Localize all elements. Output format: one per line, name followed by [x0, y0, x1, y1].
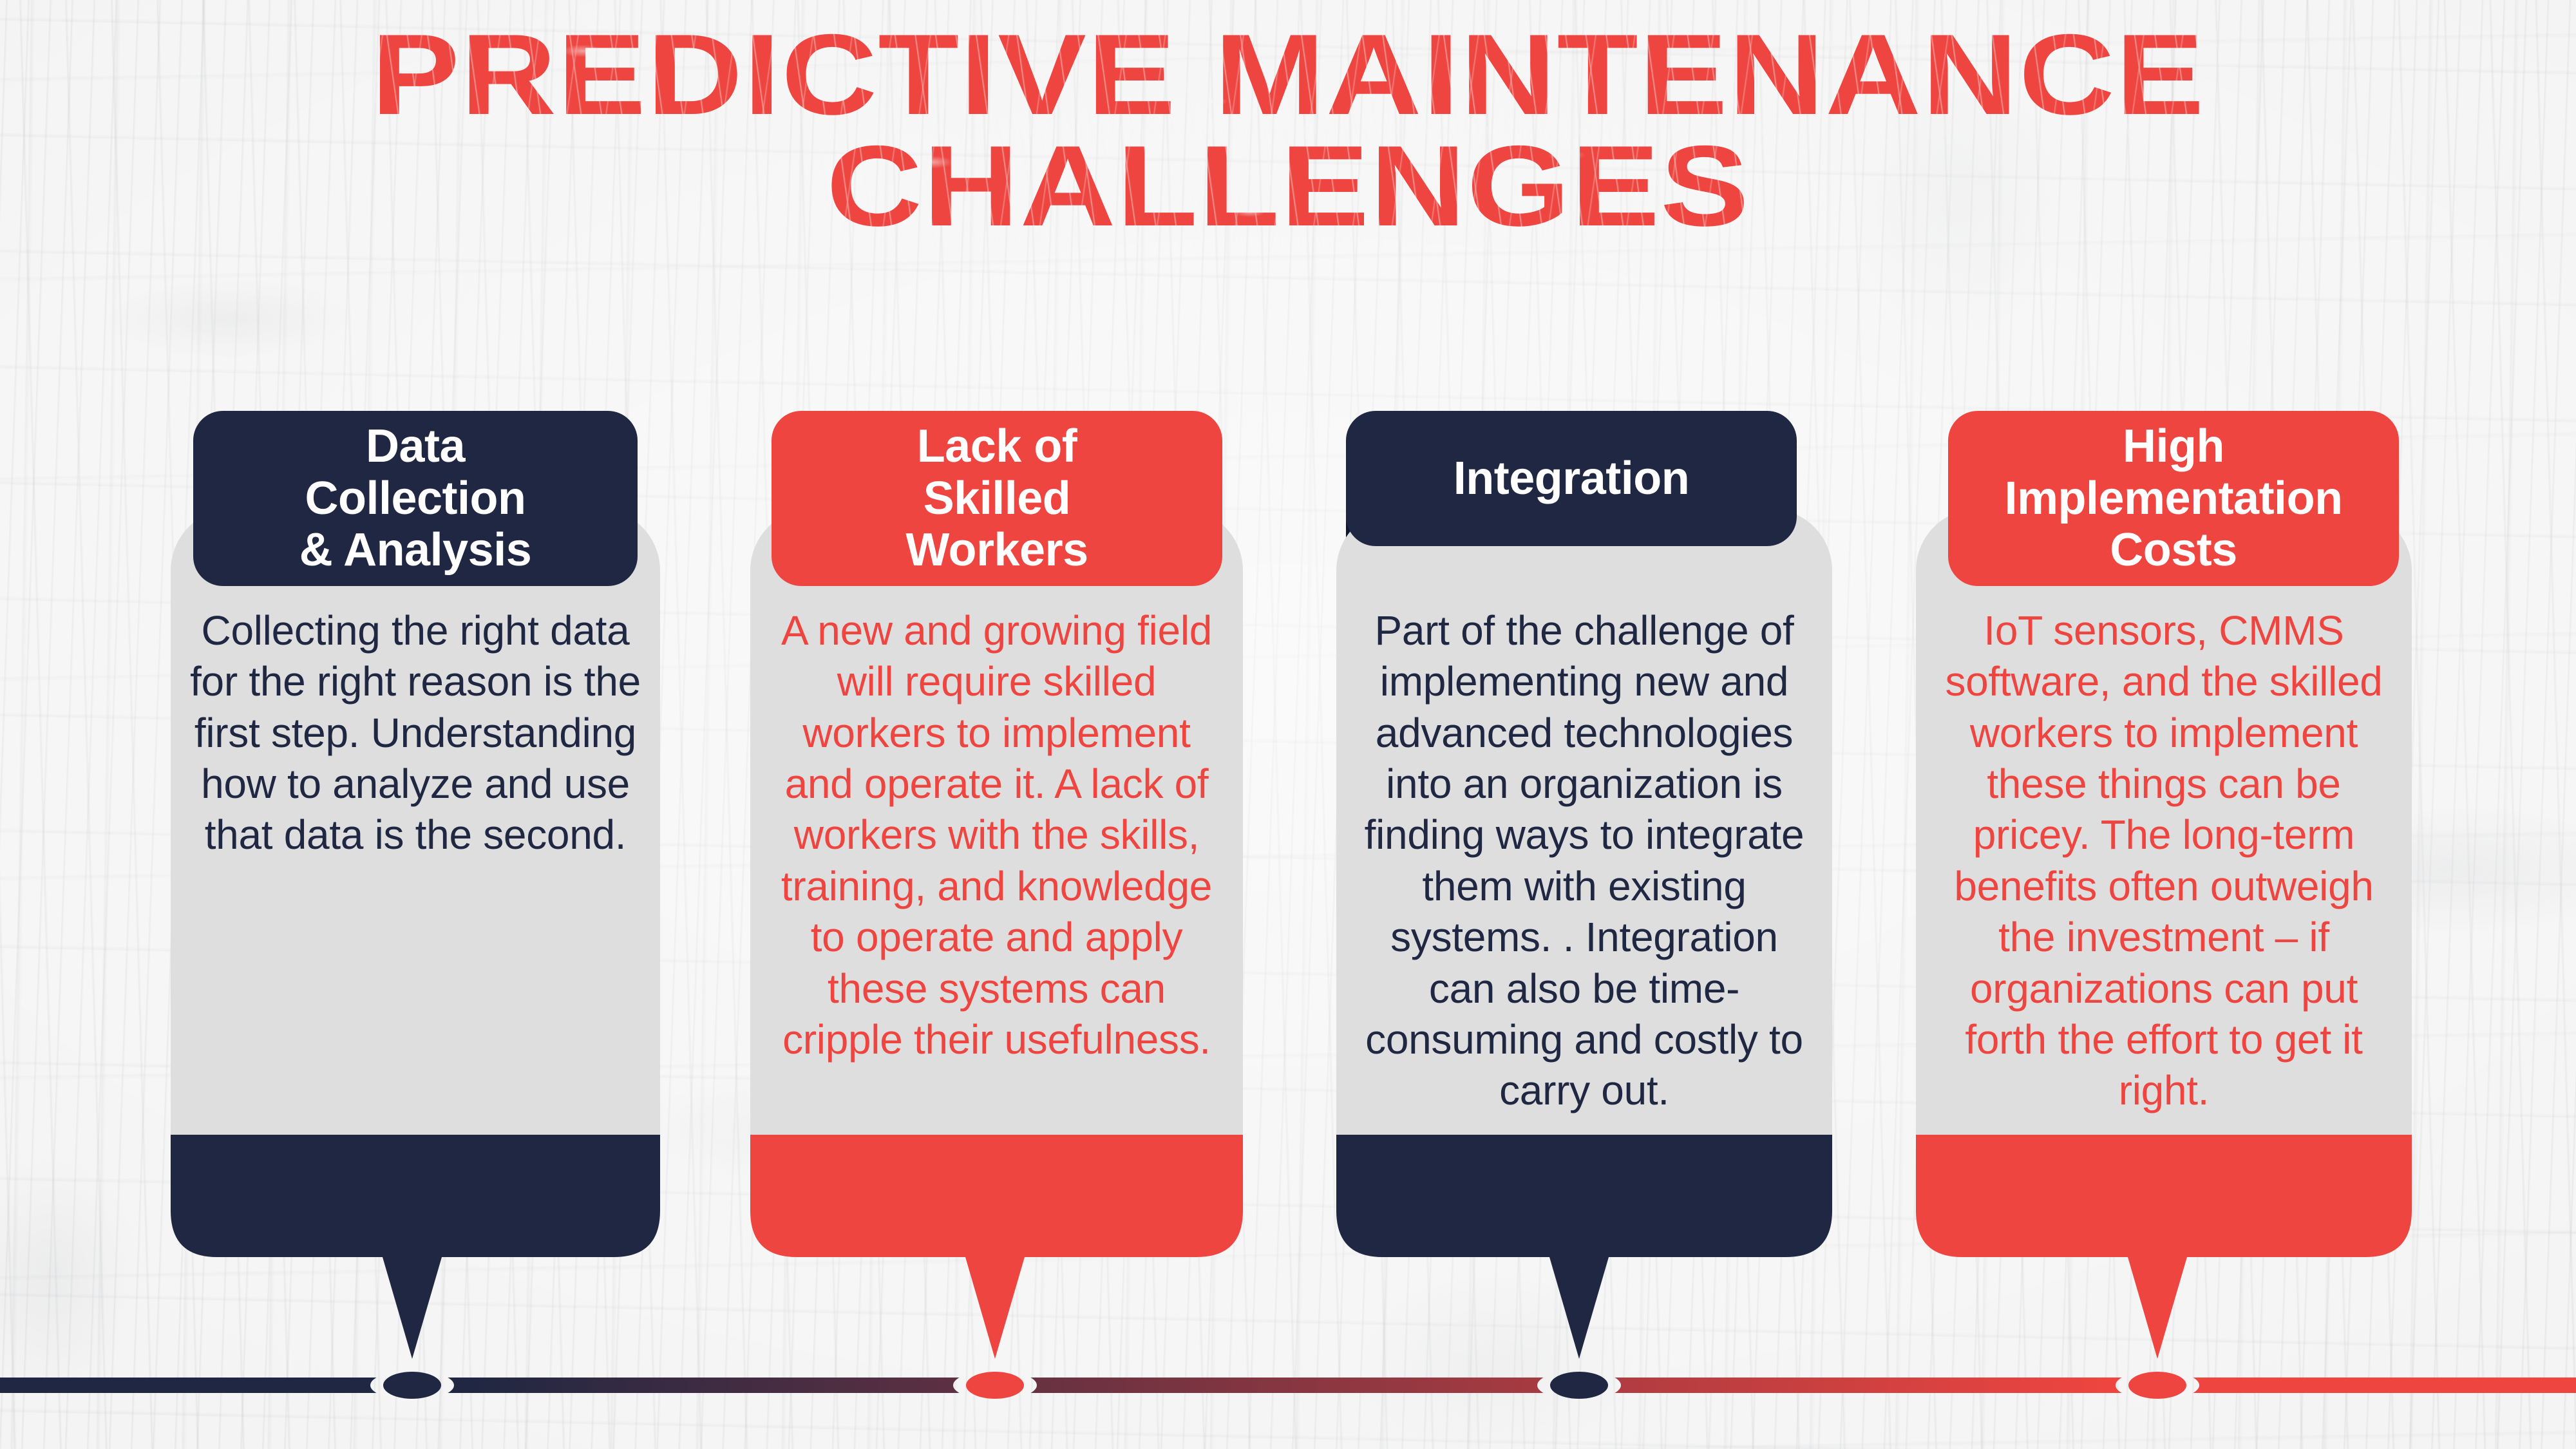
card-heading: Lack ofSkilledWorkers	[905, 421, 1088, 576]
card-heading: Integration	[1454, 453, 1690, 505]
card-heading: HighImplementationCosts	[2004, 421, 2342, 576]
card-description: IoT sensors, CMMS software, and the skil…	[1934, 605, 2394, 1117]
card-description: Part of the challenge of implementing ne…	[1354, 605, 1814, 1117]
card-header-tab: DataCollection& Analysis	[193, 411, 638, 586]
timeline-node-data-collection-analysis[interactable]	[383, 1372, 441, 1399]
timeline-bar	[0, 1370, 2576, 1400]
card-description: Collecting the right data for the right …	[189, 605, 642, 861]
card-footer-pointer	[750, 1135, 1243, 1359]
card-description: A new and growing field will require ski…	[768, 605, 1225, 1065]
card-header-tab: Integration	[1346, 411, 1797, 546]
card-heading: DataCollection& Analysis	[299, 421, 531, 576]
card-header-tab: HighImplementationCosts	[1948, 411, 2399, 586]
page-title-line-1: PREDICTIVE MAINTENANCE	[0, 19, 2576, 131]
page-title-line-2-text: CHALLENGES	[826, 122, 1750, 250]
card-footer-pointer	[171, 1135, 660, 1359]
card-header-tab: Lack ofSkilledWorkers	[772, 411, 1222, 586]
infographic-canvas: PREDICTIVE MAINTENANCE CHALLENGES DataCo…	[0, 0, 2576, 1449]
card-footer-pointer	[1336, 1135, 1832, 1359]
page-title-line-2: CHALLENGES	[0, 131, 2576, 242]
card-footer-pointer	[1916, 1135, 2412, 1359]
timeline-node-lack-of-skilled-workers[interactable]	[966, 1372, 1024, 1399]
timeline-node-high-implementation-costs[interactable]	[2128, 1372, 2186, 1399]
page-title: PREDICTIVE MAINTENANCE CHALLENGES	[0, 19, 2576, 241]
timeline-node-integration[interactable]	[1550, 1372, 1608, 1399]
page-title-line-1-text: PREDICTIVE MAINTENANCE	[371, 10, 2205, 138]
